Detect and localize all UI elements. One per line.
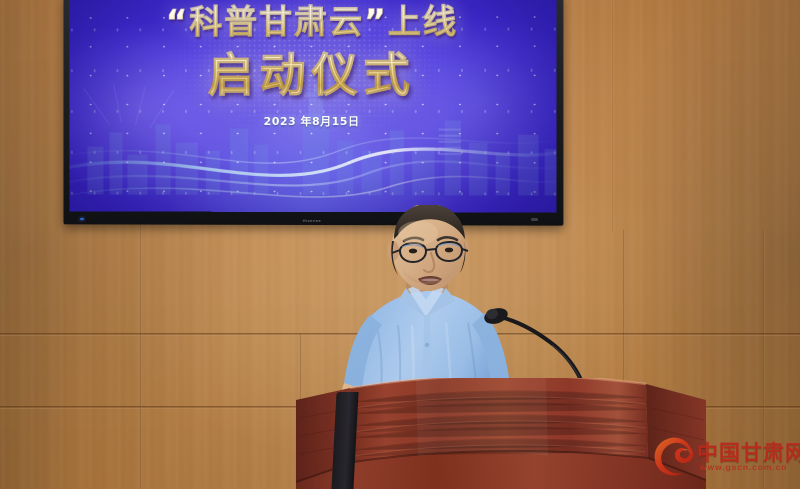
display-power-led [80,218,84,220]
watermark-url: www.gscn.com.cn [700,462,787,472]
screen-text-block: “科普甘肃云”上线 启动仪式 2023 年8月15日 [69,0,556,129]
led-display: “科普甘肃云”上线 启动仪式 2023 年8月15日 Hisense [62,0,562,225]
screen-title-line1: “科普甘肃云”上线 [69,2,556,42]
gansu-net-logo-icon [650,433,698,481]
wall-seam-vertical [612,0,614,232]
screen-date: 2023 年8月15日 [69,112,556,128]
photo-scene: “科普甘肃云”上线 启动仪式 2023 年8月15日 Hisense [0,0,800,489]
microphone-head [482,305,509,326]
screen-title-line2: 启动仪式 [69,50,556,101]
display-screen: “科普甘肃云”上线 启动仪式 2023 年8月15日 [69,0,556,213]
watermark: 中国甘肃网 www.gscn.com.cn [650,431,794,483]
